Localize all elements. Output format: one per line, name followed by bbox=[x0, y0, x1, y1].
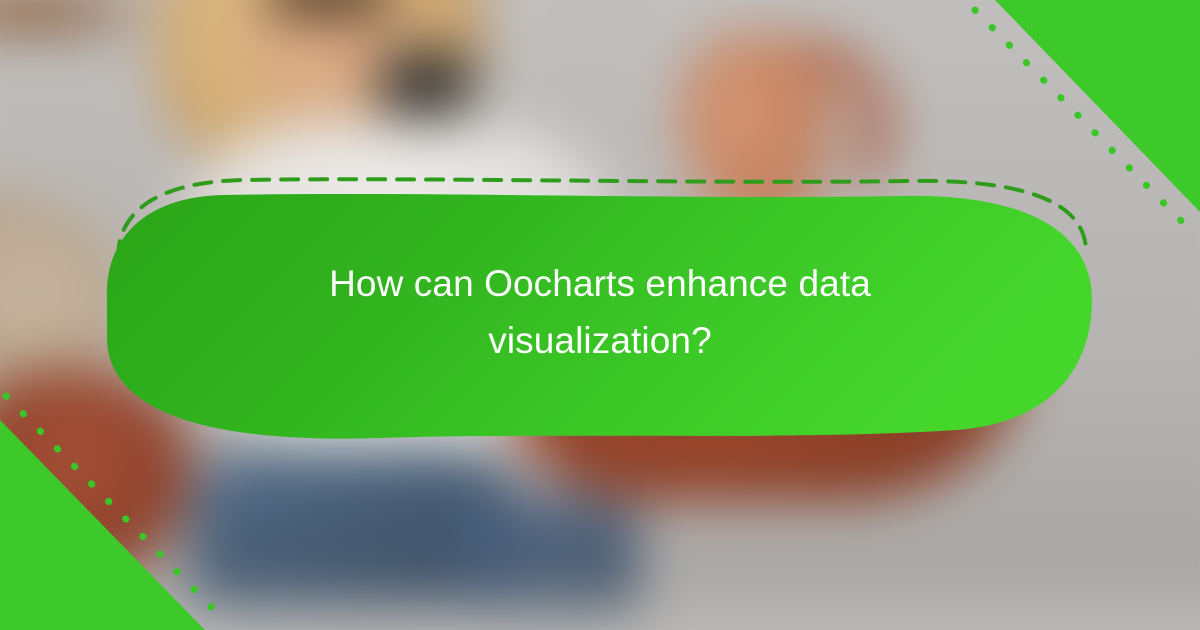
headline-line-1: How can Oocharts enhance data bbox=[150, 255, 1050, 312]
background-lips bbox=[310, 38, 362, 58]
background-bag-fold-b bbox=[640, 370, 664, 500]
background-left-arm bbox=[0, 0, 150, 34]
og-image-canvas: How can Oocharts enhance data visualizat… bbox=[0, 0, 1200, 630]
headline-line-2: visualization? bbox=[150, 312, 1050, 369]
background-dark-object bbox=[380, 50, 470, 118]
page-title: How can Oocharts enhance data visualizat… bbox=[150, 255, 1050, 370]
background-bag-fold-a bbox=[570, 360, 596, 490]
background-floor-fade bbox=[0, 570, 1200, 630]
sunglasses-shape bbox=[270, 0, 390, 15]
